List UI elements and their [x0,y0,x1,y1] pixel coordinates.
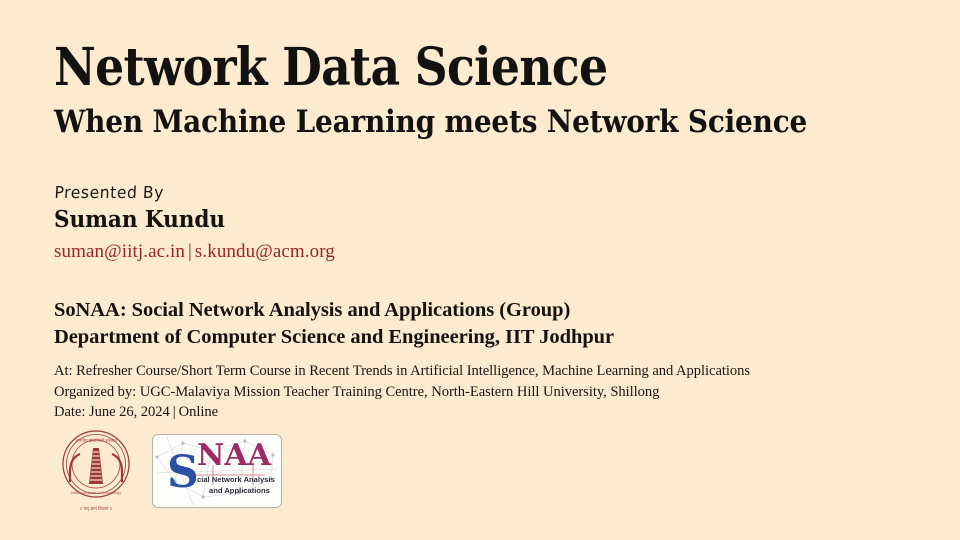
presenter-name: Suman Kundu [54,206,618,233]
presentation-slide: Network Data Science When Machine Learni… [0,0,960,540]
svg-text:NAA: NAA [197,438,272,473]
event-organized-by-line: Organized by: UGC-Malaviya Mission Teach… [54,382,944,403]
event-date-separator: | [170,404,179,420]
page-title: Network Data Science [54,40,811,95]
event-date: Date: June 26, 2024 [54,404,170,420]
event-at-line: At: Refresher Course/Short Term Course i… [54,361,944,382]
presenter-emails: suman@iitj.ac.in|s.kundu@acm.org [54,241,654,263]
svg-text:cial Network Analysis: cial Network Analysis [197,475,275,484]
affiliation-group-line: SoNAA: Social Network Analysis and Appli… [54,297,914,324]
email-separator: | [185,241,195,262]
presenter-block: Presented By Suman Kundu suman@iitj.ac.i… [54,184,654,263]
event-mode: Online [179,404,218,420]
svg-text:भारतीय प्रौद्योगिकी संस्थान: भारतीय प्रौद्योगिकी संस्थान [75,438,117,443]
page-subtitle: When Machine Learning meets Network Scie… [54,105,828,140]
title-block: Network Data Science When Machine Learni… [54,40,914,140]
email-secondary[interactable]: s.kundu@acm.org [195,241,335,262]
affiliation-department-line: Department of Computer Science and Engin… [54,324,914,351]
event-date-line: Date: June 26, 2024|Online [54,402,944,423]
event-details-block: At: Refresher Course/Short Term Course i… [54,361,944,423]
svg-text:॥ यत् ज्ञानं विज्ञानं ॥: ॥ यत् ज्ञानं विज्ञानं ॥ [79,505,112,512]
sonaa-logo: S NAA cial Network Analysis and Applicat… [152,434,282,508]
affiliation-block: SoNAA: Social Network Analysis and Appli… [54,297,914,350]
svg-text:Indian Institute of Technology: Indian Institute of Technology [71,490,121,495]
svg-text:S: S [167,447,199,498]
email-primary[interactable]: suman@iitj.ac.in [54,241,185,262]
iit-jodhpur-logo: भारतीय प्रौद्योगिकी संस्थान Indian Insti… [56,428,136,514]
presented-by-label: Presented By [54,183,655,202]
logo-row: भारतीय प्रौद्योगिकी संस्थान Indian Insti… [56,428,282,514]
svg-text:and Applications: and Applications [209,486,270,495]
